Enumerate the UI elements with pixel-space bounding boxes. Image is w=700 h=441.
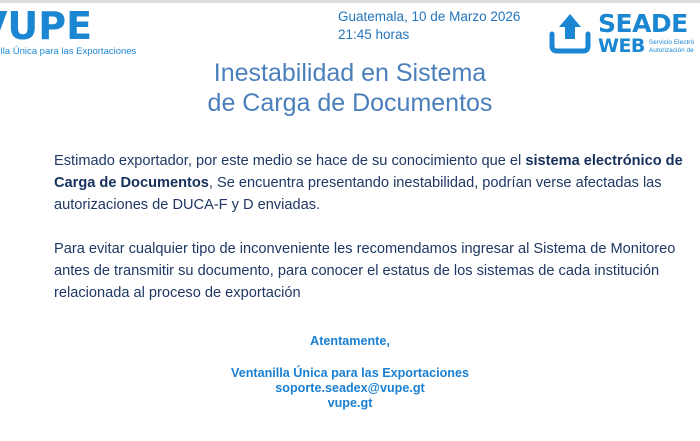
seadex-tagline-line1: Servicio Electró [649,39,694,47]
seadex-wordmark: SEADE [598,11,700,36]
notice-page: VUPE ntanilla Única para las Exportacion… [0,0,700,441]
upload-icon [548,12,592,54]
seadex-web-wordmark: WEB [598,37,645,56]
page-title-line2: de Carga de Documentos [0,88,700,118]
vupe-wordmark: VUPE [0,7,178,45]
signature-email[interactable]: soporte.seadex@vupe.gt [0,381,700,396]
signature-organization: Ventanilla Única para las Exportaciones [0,366,700,381]
page-title: Inestabilidad en Sistema de Carga de Doc… [0,58,700,118]
signature-spacer [0,349,700,366]
page-title-line1: Inestabilidad en Sistema [0,58,700,88]
signature-block: Atentamente, Ventanilla Única para las E… [0,334,700,411]
notice-body: Estimado exportador, por este medio se h… [54,150,698,304]
signature-website[interactable]: vupe.gt [0,396,700,411]
notice-paragraph-1: Estimado exportador, por este medio se h… [54,150,698,216]
page-header: VUPE ntanilla Única para las Exportacion… [0,3,700,58]
dateline-time: 21:45 horas [338,26,520,44]
paragraph-1-part-1: Estimado exportador, por este medio se h… [54,153,525,169]
signature-closing: Atentamente, [0,334,700,349]
dateline: Guatemala, 10 de Marzo 2026 21:45 horas [338,8,520,44]
notice-paragraph-2: Para evitar cualquier tipo de inconvenie… [54,238,698,304]
vupe-logo: VUPE ntanilla Única para las Exportacion… [0,7,178,57]
seadex-tagline-line2: Autorización de [649,47,694,55]
seadex-tagline: Servicio Electró Autorización de [649,39,694,55]
dateline-location-date: Guatemala, 10 de Marzo 2026 [338,8,520,26]
vupe-tagline: ntanilla Única para las Exportaciones [0,46,178,57]
seadex-web-logo: SEADE WEB Servicio Electró Autorización … [548,9,700,57]
